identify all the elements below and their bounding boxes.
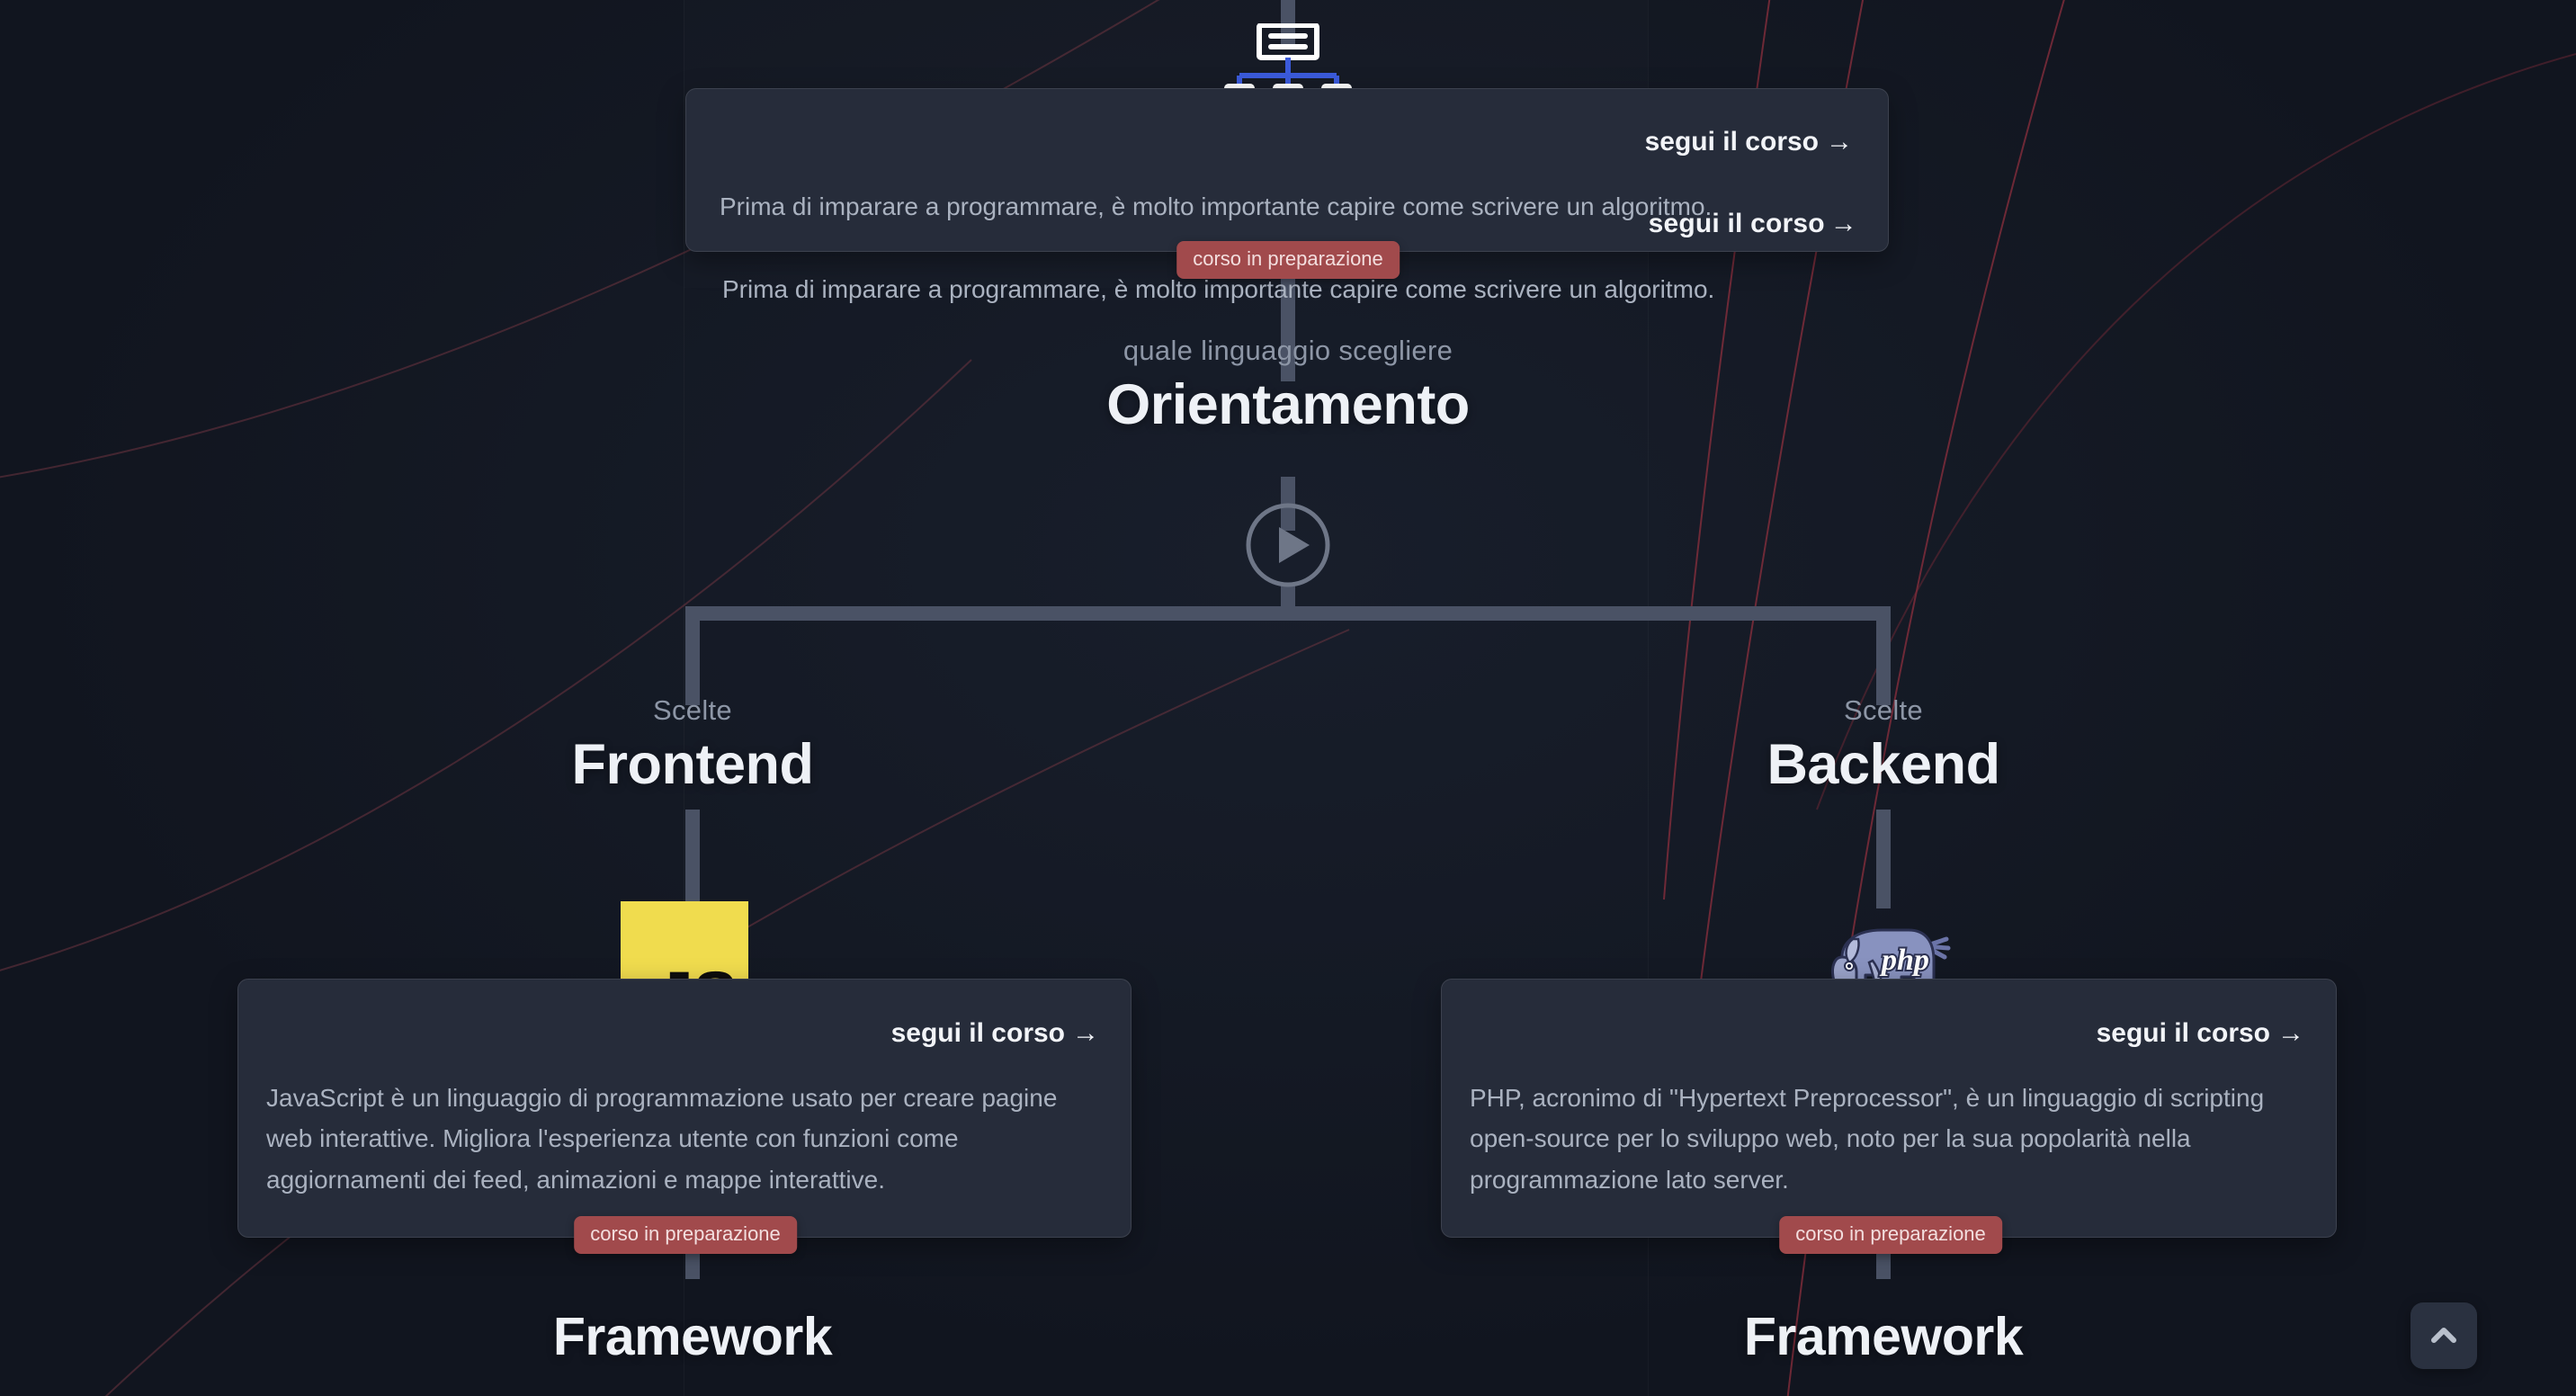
frontend-title: Frontend	[333, 732, 1052, 797]
play-button[interactable]	[1243, 500, 1333, 590]
connector-branch-right-2	[1876, 810, 1891, 908]
connector-branch-left	[685, 606, 700, 705]
javascript-follow-course-label[interactable]: segui il corso	[891, 1018, 1065, 1048]
algorithm-card-link-text[interactable]: segui il corso	[1645, 127, 1819, 157]
branch-backend-heading: Scelte Backend	[1524, 694, 2243, 797]
algorithm-card-text: Prima di imparare a programmare, è molto…	[720, 187, 1862, 228]
scroll-to-top-button[interactable]	[2411, 1302, 2477, 1369]
connector-horizontal-split	[685, 606, 1891, 621]
orientation-subtitle: quale linguaggio scegliere	[928, 335, 1648, 367]
backend-subtitle: Scelte	[1524, 694, 2243, 727]
svg-text:php: php	[1879, 944, 1929, 977]
algorithm-status-badge: corso in preparazione	[1176, 241, 1400, 279]
connector-branch-right	[1876, 606, 1891, 705]
backend-framework-title: Framework	[1524, 1306, 2243, 1367]
php-follow-course-label[interactable]: segui il corso	[2097, 1018, 2270, 1048]
backend-title: Backend	[1524, 732, 2243, 797]
orientation-title: Orientamento	[928, 372, 1648, 437]
connector-branch-left-2	[685, 810, 700, 908]
php-status-badge: corso in preparazione	[1779, 1216, 2002, 1254]
javascript-status-badge: corso in preparazione	[574, 1216, 797, 1254]
php-card-link-wrap[interactable]: segui il corso→	[1889, 1018, 2304, 1049]
branch-frontend-heading: Scelte Frontend	[333, 694, 1052, 797]
learning-path-page: segui il corso→ Prima di imparare a prog…	[0, 0, 2576, 1396]
javascript-card-description: JavaScript è un linguaggio di programmaz…	[266, 1078, 1103, 1200]
frontend-framework-heading: Framework	[333, 1306, 1052, 1367]
algorithm-card-link-wrap[interactable]: segui il corso→	[1439, 127, 1853, 157]
arrow-right-icon: →	[2277, 1018, 2304, 1048]
backend-framework-heading: Framework	[1524, 1306, 2243, 1367]
arrow-right-icon: →	[1826, 127, 1853, 157]
javascript-card-link-wrap[interactable]: segui il corso→	[684, 1018, 1099, 1049]
php-card-description: PHP, acronimo di "Hypertext Preprocessor…	[1470, 1078, 2306, 1200]
chevron-up-icon	[2426, 1318, 2462, 1354]
arrow-right-icon: →	[1072, 1018, 1099, 1048]
frontend-framework-title: Framework	[333, 1306, 1052, 1367]
orientation-section: quale linguaggio scegliere Orientamento	[928, 335, 1648, 437]
frontend-subtitle: Scelte	[333, 694, 1052, 727]
